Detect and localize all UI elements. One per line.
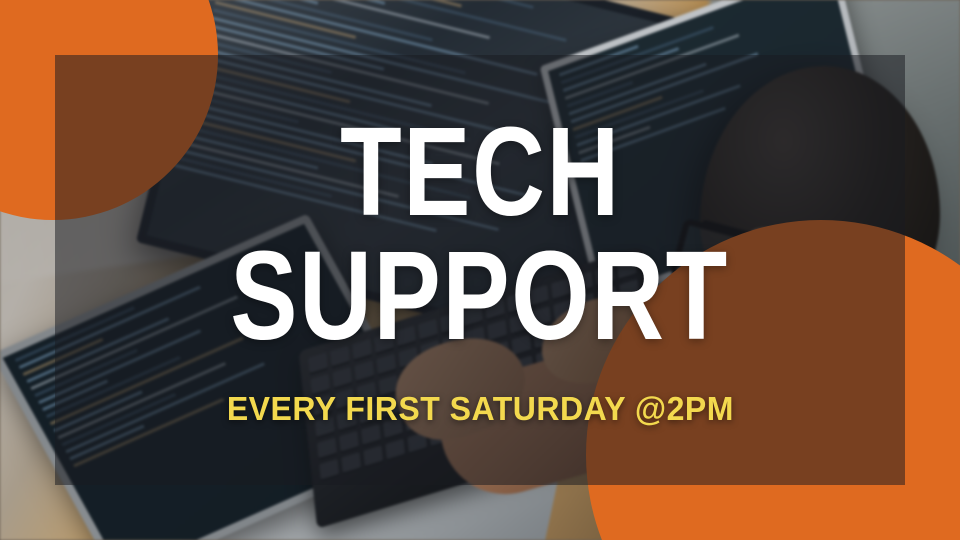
event-schedule-subtitle: EVERY FIRST SATURDAY @2PM [226, 390, 733, 428]
page-title-line-2: SUPPORT [231, 236, 729, 356]
poster-text-block: TECH SUPPORT EVERY FIRST SATURDAY @2PM [55, 55, 905, 485]
page-title-line-1: TECH [340, 112, 621, 232]
poster-canvas: TECH SUPPORT EVERY FIRST SATURDAY @2PM [0, 0, 960, 540]
